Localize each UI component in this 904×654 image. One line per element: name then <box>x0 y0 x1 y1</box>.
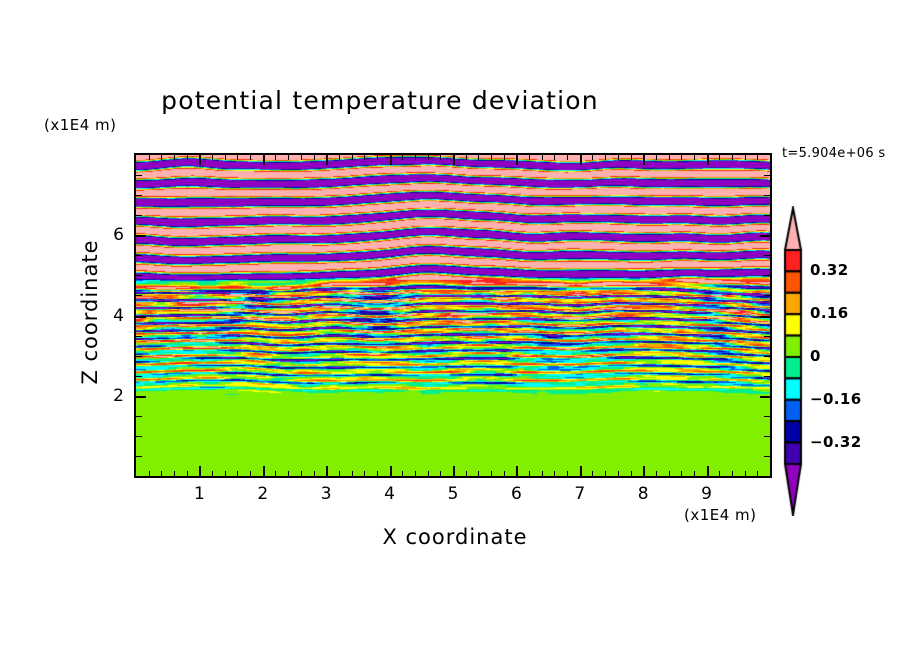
axis-tick <box>390 155 392 165</box>
axis-tick <box>377 155 378 160</box>
axis-tick <box>745 155 746 160</box>
axis-tick <box>440 471 441 476</box>
axis-tick <box>415 471 416 476</box>
axis-tick <box>136 316 146 318</box>
axis-tick <box>275 471 276 476</box>
axis-tick <box>453 155 455 165</box>
x-tick-label: 8 <box>628 484 658 504</box>
axis-tick <box>352 155 353 160</box>
axis-tick <box>643 466 645 476</box>
axis-tick <box>212 471 213 476</box>
axis-tick <box>605 155 606 160</box>
axis-tick <box>732 155 733 160</box>
chart-title: potential temperature deviation <box>0 86 760 115</box>
axis-tick <box>314 155 315 160</box>
axis-tick <box>415 155 416 160</box>
y-tick-label: 6 <box>94 225 124 245</box>
axis-tick <box>263 466 265 476</box>
axis-tick <box>402 471 403 476</box>
plot-area <box>134 153 772 478</box>
y-tick-label: 4 <box>94 306 124 326</box>
axis-tick <box>187 471 188 476</box>
axis-tick <box>764 376 770 377</box>
axis-tick <box>136 456 142 457</box>
axis-tick <box>516 155 518 165</box>
axis-tick <box>554 471 555 476</box>
axis-tick <box>504 471 505 476</box>
axis-tick <box>631 471 632 476</box>
axis-tick <box>732 471 733 476</box>
axis-tick <box>681 471 682 476</box>
axis-tick <box>237 471 238 476</box>
x-tick-label: 6 <box>501 484 531 504</box>
axis-tick <box>352 471 353 476</box>
axis-tick <box>764 416 770 417</box>
axis-tick <box>402 155 403 160</box>
axis-tick <box>760 235 770 237</box>
axis-tick <box>199 155 201 165</box>
axis-tick <box>136 376 142 377</box>
x-tick-label: 9 <box>692 484 722 504</box>
axis-tick <box>542 471 543 476</box>
axis-tick <box>745 471 746 476</box>
axis-tick <box>161 155 162 160</box>
axis-tick <box>719 155 720 160</box>
axis-tick <box>491 155 492 160</box>
axis-tick <box>491 471 492 476</box>
axis-tick <box>453 466 455 476</box>
axis-tick <box>275 155 276 160</box>
axis-tick <box>314 471 315 476</box>
axis-tick <box>250 471 251 476</box>
y-tick-label: 2 <box>94 386 124 406</box>
axis-tick <box>542 155 543 160</box>
axis-tick <box>764 215 770 216</box>
axis-tick <box>504 155 505 160</box>
axis-tick <box>764 456 770 457</box>
axis-tick <box>631 155 632 160</box>
axis-tick <box>592 155 593 160</box>
x-tick-label: 7 <box>565 484 595 504</box>
axis-tick <box>428 155 429 160</box>
axis-tick <box>554 155 555 160</box>
axis-tick <box>681 155 682 160</box>
axis-tick <box>656 155 657 160</box>
axis-tick <box>719 471 720 476</box>
axis-tick <box>136 336 142 337</box>
axis-tick <box>707 466 709 476</box>
axis-tick <box>529 471 530 476</box>
colorbar-tick-label: 0.32 <box>810 261 849 279</box>
x-tick-label: 4 <box>375 484 405 504</box>
axis-tick <box>339 471 340 476</box>
axis-tick <box>757 471 758 476</box>
axis-tick <box>225 155 226 160</box>
axis-tick <box>136 295 142 296</box>
axis-tick <box>136 416 142 417</box>
axis-tick <box>390 466 392 476</box>
axis-tick <box>605 471 606 476</box>
colorbar-tick-label: 0.16 <box>810 304 849 322</box>
x-axis-title: X coordinate <box>255 525 655 549</box>
timestamp-annotation: t=5.904e+06 s <box>782 146 885 161</box>
colorbar-tick-label: 0 <box>810 347 821 365</box>
axis-tick <box>428 471 429 476</box>
y-axis-unit-label: (x1E4 m) <box>44 116 117 134</box>
axis-tick <box>764 436 770 437</box>
axis-tick <box>288 155 289 160</box>
axis-tick <box>580 155 582 165</box>
axis-tick <box>707 155 709 165</box>
axis-tick <box>764 295 770 296</box>
axis-tick <box>187 155 188 160</box>
axis-tick <box>478 471 479 476</box>
axis-tick <box>760 316 770 318</box>
x-tick-label: 5 <box>438 484 468 504</box>
axis-tick <box>580 466 582 476</box>
axis-tick <box>225 471 226 476</box>
figure-canvas: potential temperature deviation (x1E4 m)… <box>0 0 904 654</box>
axis-tick <box>364 155 365 160</box>
axis-tick <box>764 195 770 196</box>
axis-tick <box>656 471 657 476</box>
axis-tick <box>174 155 175 160</box>
axis-tick <box>760 396 770 398</box>
axis-tick <box>567 471 568 476</box>
axis-tick <box>478 155 479 160</box>
contour-field <box>136 155 770 476</box>
axis-tick <box>592 471 593 476</box>
axis-tick <box>136 396 146 398</box>
axis-tick <box>377 471 378 476</box>
axis-tick <box>529 155 530 160</box>
axis-tick <box>339 155 340 160</box>
axis-tick <box>199 466 201 476</box>
axis-tick <box>161 471 162 476</box>
axis-tick <box>326 466 328 476</box>
axis-tick <box>764 275 770 276</box>
axis-tick <box>136 215 142 216</box>
colorbar-tick-label: −0.32 <box>810 433 862 451</box>
axis-tick <box>516 466 518 476</box>
colorbar-tick-label: −0.16 <box>810 390 862 408</box>
axis-tick <box>136 195 142 196</box>
x-axis-unit-label: (x1E4 m) <box>684 506 757 524</box>
axis-tick <box>212 155 213 160</box>
axis-tick <box>466 471 467 476</box>
axis-tick <box>326 155 328 165</box>
axis-tick <box>669 471 670 476</box>
axis-tick <box>288 471 289 476</box>
axis-tick <box>618 471 619 476</box>
x-tick-label: 2 <box>248 484 278 504</box>
axis-tick <box>757 155 758 160</box>
axis-tick <box>136 356 142 357</box>
axis-tick <box>694 155 695 160</box>
axis-tick <box>764 336 770 337</box>
axis-tick <box>669 155 670 160</box>
x-tick-label: 3 <box>311 484 341 504</box>
axis-tick <box>764 255 770 256</box>
axis-tick <box>136 275 142 276</box>
axis-tick <box>136 255 142 256</box>
axis-tick <box>440 155 441 160</box>
axis-tick <box>149 155 150 160</box>
axis-tick <box>136 436 142 437</box>
axis-tick <box>764 356 770 357</box>
axis-tick <box>764 175 770 176</box>
axis-tick <box>301 155 302 160</box>
axis-tick <box>136 175 142 176</box>
axis-tick <box>263 155 265 165</box>
axis-tick <box>643 155 645 165</box>
axis-tick <box>618 155 619 160</box>
colorbar-gradient <box>778 206 808 516</box>
x-tick-label: 1 <box>184 484 214 504</box>
axis-tick <box>136 235 146 237</box>
axis-tick <box>174 471 175 476</box>
axis-tick <box>364 471 365 476</box>
axis-tick <box>567 155 568 160</box>
colorbar: 0.320.160−0.16−0.32 <box>778 206 808 516</box>
axis-tick <box>237 155 238 160</box>
axis-tick <box>694 471 695 476</box>
axis-tick <box>466 155 467 160</box>
axis-tick <box>301 471 302 476</box>
axis-tick <box>250 155 251 160</box>
axis-tick <box>149 471 150 476</box>
